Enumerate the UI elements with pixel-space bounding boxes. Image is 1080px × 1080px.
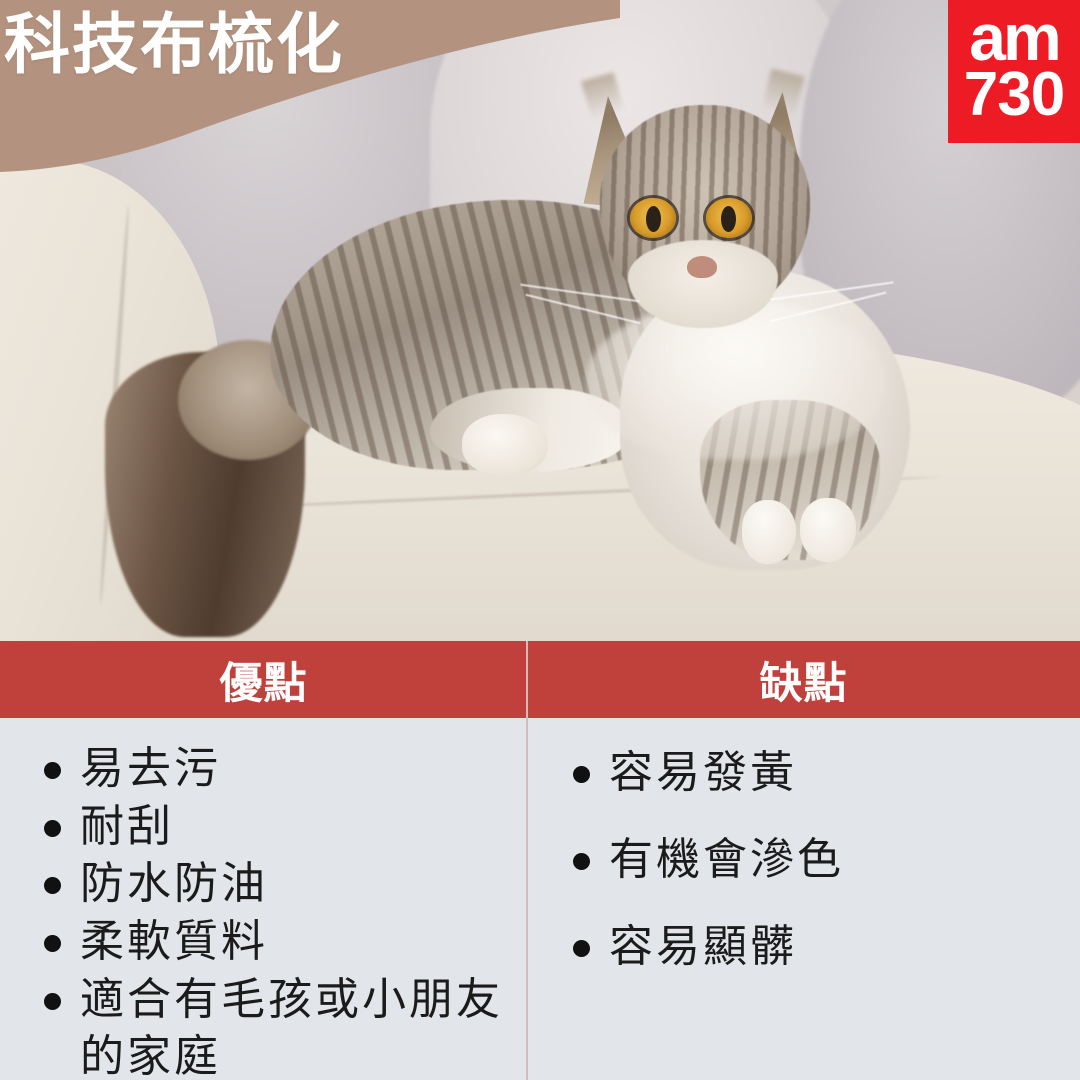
column-divider: [526, 641, 528, 1080]
list-item: 容易發黃: [563, 744, 1062, 801]
cat-ear-tuft-right: [761, 69, 804, 118]
cat-paw-right-outer: [800, 498, 856, 562]
list-item: 耐刮: [34, 798, 509, 856]
pros-list: 易去污 耐刮 防水防油 柔軟質料 適合有毛孩或小朋友的家庭: [34, 740, 509, 1080]
cons-list: 容易發黃 有機會滲色 容易顯髒: [563, 744, 1062, 976]
list-item: 適合有毛孩或小朋友的家庭: [34, 971, 509, 1080]
cat-paw-left: [462, 414, 548, 476]
pros-cons-table: 優點 缺點 易去污 耐刮 防水防油 柔軟質料 適合有毛孩或小朋友的家庭 容易發黃…: [0, 641, 1080, 1080]
list-item: 柔軟質料: [34, 913, 509, 971]
cat-pupil-right: [721, 206, 736, 232]
cons-column: 容易發黃 有機會滲色 容易顯髒: [527, 718, 1080, 1080]
infographic-page: 科技布梳化 am 730 優點 缺點 易去污 耐刮 防水防油 柔軟質料 適合有毛…: [0, 0, 1080, 1080]
cat-paw-right-inner: [742, 500, 796, 564]
list-item: 易去污: [34, 740, 509, 798]
list-item: 防水防油: [34, 855, 509, 913]
table-header-pros: 優點: [0, 641, 527, 718]
table-header-row: 優點 缺點: [0, 641, 1080, 718]
table-header-cons: 缺點: [527, 641, 1080, 718]
cat-nose: [687, 256, 717, 278]
cat-pupil-left: [646, 206, 661, 232]
cat-ear-tuft-left: [581, 72, 625, 122]
pros-column: 易去污 耐刮 防水防油 柔軟質料 適合有毛孩或小朋友的家庭: [0, 718, 527, 1080]
list-item: 有機會滲色: [563, 831, 1062, 888]
logo-text-730: 730: [948, 64, 1080, 126]
list-item: 容易顯髒: [563, 918, 1062, 975]
table-body: 易去污 耐刮 防水防油 柔軟質料 適合有毛孩或小朋友的家庭 容易發黃 有機會滲色…: [0, 718, 1080, 1080]
cat-neck-ruff: [586, 300, 886, 460]
am730-logo[interactable]: am 730: [948, 0, 1080, 143]
page-title: 科技布梳化: [4, 8, 344, 82]
